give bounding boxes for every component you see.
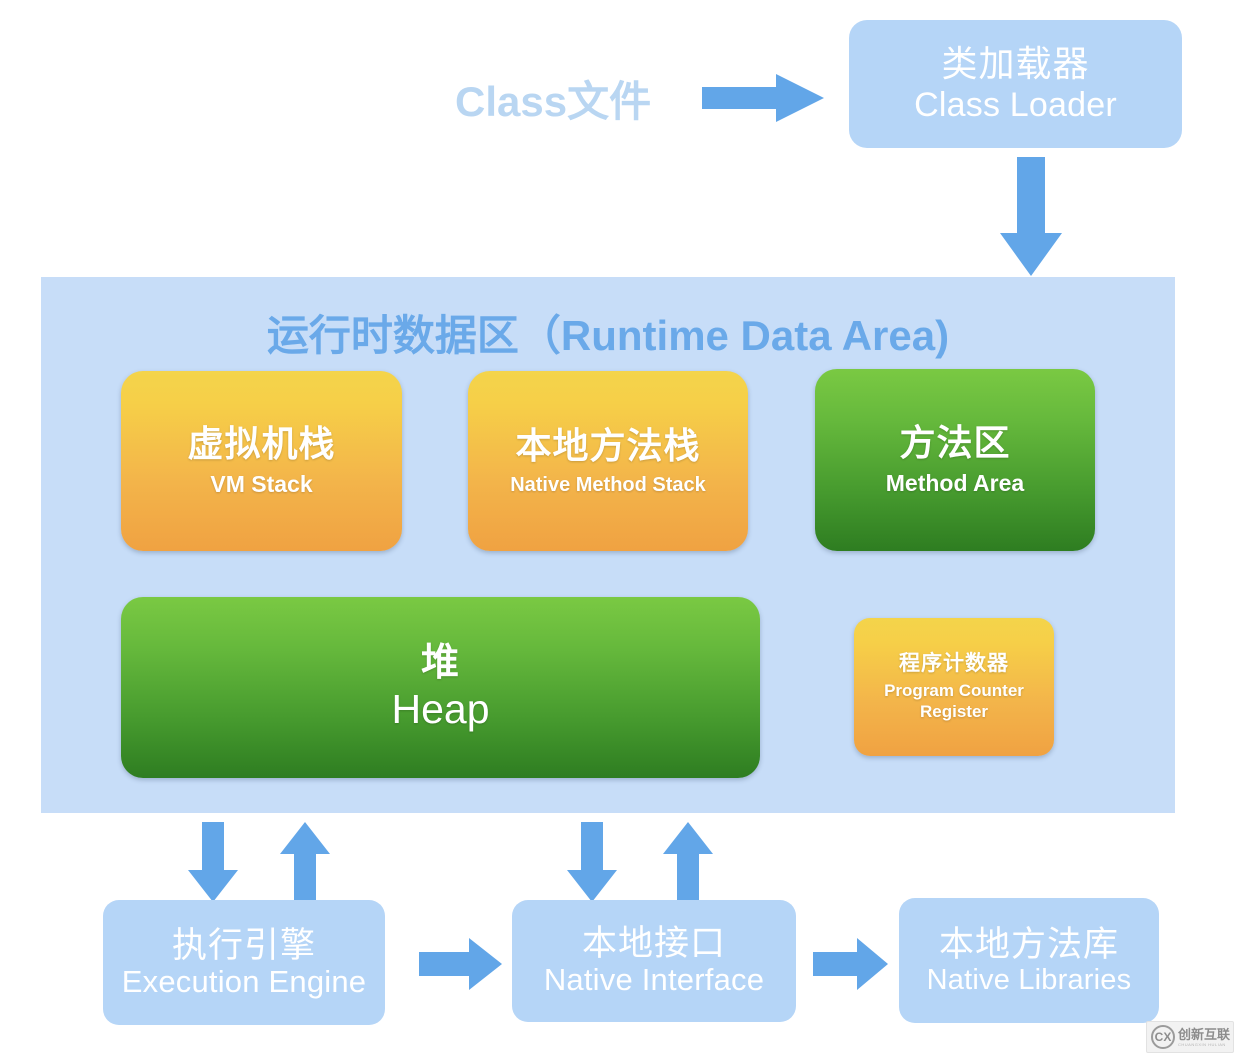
arrow-class-loader-to-runtime-area — [1000, 157, 1062, 276]
heap-label-en: Heap — [391, 687, 489, 733]
native-libraries-label-en: Native Libraries — [927, 964, 1132, 996]
watermark-main-text: 创新互联 — [1178, 1028, 1230, 1041]
method-area-label-cn: 方法区 — [899, 423, 1010, 463]
native-method-stack-label-en: Native Method Stack — [510, 474, 706, 496]
execution-engine-label-cn: 执行引擎 — [172, 926, 316, 965]
arrow-native-interface-to-native-libraries — [813, 938, 888, 990]
execution-engine-label-en: Execution Engine — [122, 965, 366, 1000]
heap-box: 堆 Heap — [121, 597, 760, 778]
program-counter-label-cn: 程序计数器 — [899, 652, 1009, 676]
watermark: CX 创新互联 CHUANGXIN HULIAN — [1146, 1021, 1234, 1053]
native-method-stack-label-cn: 本地方法栈 — [515, 426, 700, 466]
runtime-data-area-title: 运行时数据区（Runtime Data Area) — [41, 302, 1175, 363]
heap-label-cn: 堆 — [421, 642, 460, 685]
class-loader-box: 类加载器 Class Loader — [849, 20, 1182, 148]
arrow-runtime-to-native-interface — [567, 822, 617, 902]
watermark-logo-icon: CX — [1151, 1025, 1175, 1049]
watermark-texts: 创新互联 CHUANGXIN HULIAN — [1178, 1028, 1230, 1047]
native-interface-box: 本地接口 Native Interface — [512, 900, 796, 1022]
native-interface-label-en: Native Interface — [544, 963, 764, 998]
class-file-label: Class文件 — [455, 68, 695, 129]
method-area-box: 方法区 Method Area — [815, 369, 1095, 551]
native-libraries-label-cn: 本地方法库 — [939, 925, 1119, 964]
class-loader-label-en: Class Loader — [914, 86, 1117, 124]
execution-engine-box: 执行引擎 Execution Engine — [103, 900, 385, 1025]
watermark-sub-text: CHUANGXIN HULIAN — [1178, 1043, 1230, 1047]
arrow-native-interface-to-runtime — [663, 822, 713, 902]
program-counter-register-box: 程序计数器 Program Counter Register — [854, 618, 1054, 756]
native-libraries-box: 本地方法库 Native Libraries — [899, 898, 1159, 1023]
native-method-stack-box: 本地方法栈 Native Method Stack — [468, 371, 748, 551]
arrow-class-file-to-class-loader — [702, 74, 824, 122]
arrow-execution-engine-to-runtime — [280, 822, 330, 902]
vm-stack-label-cn: 虚拟机栈 — [187, 424, 335, 464]
arrow-runtime-to-execution-engine — [188, 822, 238, 902]
arrow-execution-engine-to-native-interface — [419, 938, 502, 990]
native-interface-label-cn: 本地接口 — [582, 924, 726, 963]
vm-stack-label-en: VM Stack — [210, 472, 312, 498]
method-area-label-en: Method Area — [886, 471, 1024, 497]
program-counter-label-en: Program Counter Register — [854, 680, 1054, 723]
class-loader-label-cn: 类加载器 — [941, 44, 1089, 84]
vm-stack-box: 虚拟机栈 VM Stack — [121, 371, 402, 551]
jvm-architecture-diagram: Class文件 类加载器 Class Loader 运行时数据区（Runtime… — [0, 0, 1240, 1062]
